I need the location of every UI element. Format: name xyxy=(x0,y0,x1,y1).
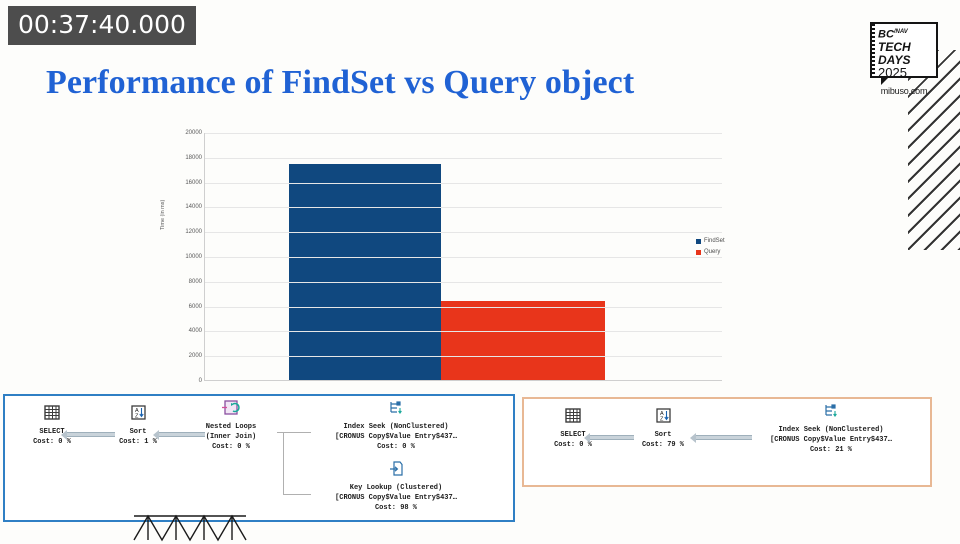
plan-node-select[interactable]: SELECT Cost: 0 % xyxy=(528,407,618,450)
plan-node-sort[interactable]: A Z Sort Cost: 1 % xyxy=(97,404,179,447)
plan-node-sort[interactable]: A Z Sort Cost: 79 % xyxy=(618,407,708,450)
chart-gridline xyxy=(205,232,722,233)
plan-node-cost: Cost: 0 % xyxy=(181,442,281,452)
page-title: Performance of FindSet vs Query object xyxy=(46,64,634,102)
chart-gridline xyxy=(205,331,722,332)
chart-legend: FindSetQuery xyxy=(696,238,725,260)
plan-node-cost: Cost: 0 % xyxy=(301,442,491,452)
bar-query xyxy=(441,301,605,380)
plan-node-cost: Cost: 21 % xyxy=(736,445,926,455)
plan-node-detail: (Inner Join) xyxy=(181,432,281,442)
legend-item[interactable]: FindSet xyxy=(696,238,725,244)
y-axis-tick-label: 6000 xyxy=(162,304,202,310)
plan-node-cost: Cost: 98 % xyxy=(301,503,491,513)
chart-gridline xyxy=(205,282,722,283)
plan-node-name: Nested Loops xyxy=(181,422,281,432)
plan-branch-vertical xyxy=(283,432,284,494)
y-axis-tick-label: 14000 xyxy=(162,204,202,210)
plan-node-index-seek[interactable]: Index Seek (NonClustered) [CRONUS Copy$V… xyxy=(301,399,491,452)
plot-area xyxy=(204,133,722,381)
legend-label: FindSet xyxy=(704,238,725,244)
logo-bubble: BC/NAV TECH DAYS 2025 xyxy=(870,22,938,78)
legend-label: Query xyxy=(704,249,720,255)
y-axis-tick-label: 18000 xyxy=(162,155,202,161)
plan-node-detail: [CRONUS Copy$Value Entry$437… xyxy=(301,432,491,442)
plan-node-name: Key Lookup (Clustered) xyxy=(301,483,491,493)
plan-node-name: Index Seek (NonClustered) xyxy=(736,425,926,435)
plan-node-detail: [CRONUS Copy$Value Entry$437… xyxy=(301,493,491,503)
nested-loops-icon xyxy=(220,399,242,416)
chart-gridline xyxy=(205,133,722,134)
logo-line-year: 2025 xyxy=(878,66,931,80)
plan-node-cost: Cost: 1 % xyxy=(97,437,179,447)
plan-node-cost: Cost: 0 % xyxy=(528,440,618,450)
zigzag-decoration xyxy=(132,510,250,544)
y-axis-tick-label: 0 xyxy=(162,378,202,384)
y-axis-tick-label: 4000 xyxy=(162,328,202,334)
query-plan-panel-findset: SELECT Cost: 0 % A Z Sort Cost: 1 % Nest… xyxy=(3,394,515,522)
logo-nav-superscript: /NAV xyxy=(894,29,908,35)
legend-swatch xyxy=(696,250,701,255)
key-lookup-icon xyxy=(387,460,405,477)
plan-node-nested-loops[interactable]: Nested Loops (Inner Join) Cost: 0 % xyxy=(181,399,281,452)
logo-url: mibuso.com xyxy=(870,86,938,96)
chart-gridline xyxy=(205,158,722,159)
plan-node-key-lookup[interactable]: Key Lookup (Clustered) [CRONUS Copy$Valu… xyxy=(301,460,491,513)
y-axis-ticks: 2000018000160001400012000100008000600040… xyxy=(160,118,202,390)
plan-node-cost: Cost: 0 % xyxy=(7,437,97,447)
sort-az-icon: A Z xyxy=(655,407,672,424)
select-grid-icon xyxy=(564,407,582,424)
chart-gridline xyxy=(205,207,722,208)
y-axis-tick-label: 12000 xyxy=(162,229,202,235)
y-axis-tick-label: 10000 xyxy=(162,254,202,260)
y-axis-tick-label: 2000 xyxy=(162,353,202,359)
mibuso-logo: BC/NAV TECH DAYS 2025 mibuso.com xyxy=(870,22,938,96)
legend-item[interactable]: Query xyxy=(696,249,725,255)
chart-gridline xyxy=(205,356,722,357)
index-seek-icon xyxy=(386,399,406,416)
plan-node-index-seek[interactable]: Index Seek (NonClustered) [CRONUS Copy$V… xyxy=(736,402,926,455)
select-grid-icon xyxy=(43,404,61,421)
logo-line-tech: TECH xyxy=(878,41,931,54)
video-timestamp-overlay: 00:37:40.000 xyxy=(8,6,196,45)
y-axis-tick-label: 8000 xyxy=(162,279,202,285)
plan-node-select[interactable]: SELECT Cost: 0 % xyxy=(7,404,97,447)
chart-gridline xyxy=(205,307,722,308)
index-seek-icon xyxy=(821,402,841,419)
chart-gridline xyxy=(205,257,722,258)
y-axis-tick-label: 20000 xyxy=(162,130,202,136)
chart-gridline xyxy=(205,183,722,184)
plan-node-name: Index Seek (NonClustered) xyxy=(301,422,491,432)
legend-swatch xyxy=(696,239,701,244)
bar-findset xyxy=(289,164,441,380)
bar-chart: Time (in ms) 200001800016000140001200010… xyxy=(160,118,780,390)
sort-az-icon: A Z xyxy=(130,404,147,421)
y-axis-tick-label: 16000 xyxy=(162,180,202,186)
plan-node-detail: [CRONUS Copy$Value Entry$437… xyxy=(736,435,926,445)
query-plan-panel-query: SELECT Cost: 0 % A Z Sort Cost: 79 % Ind… xyxy=(522,397,932,487)
